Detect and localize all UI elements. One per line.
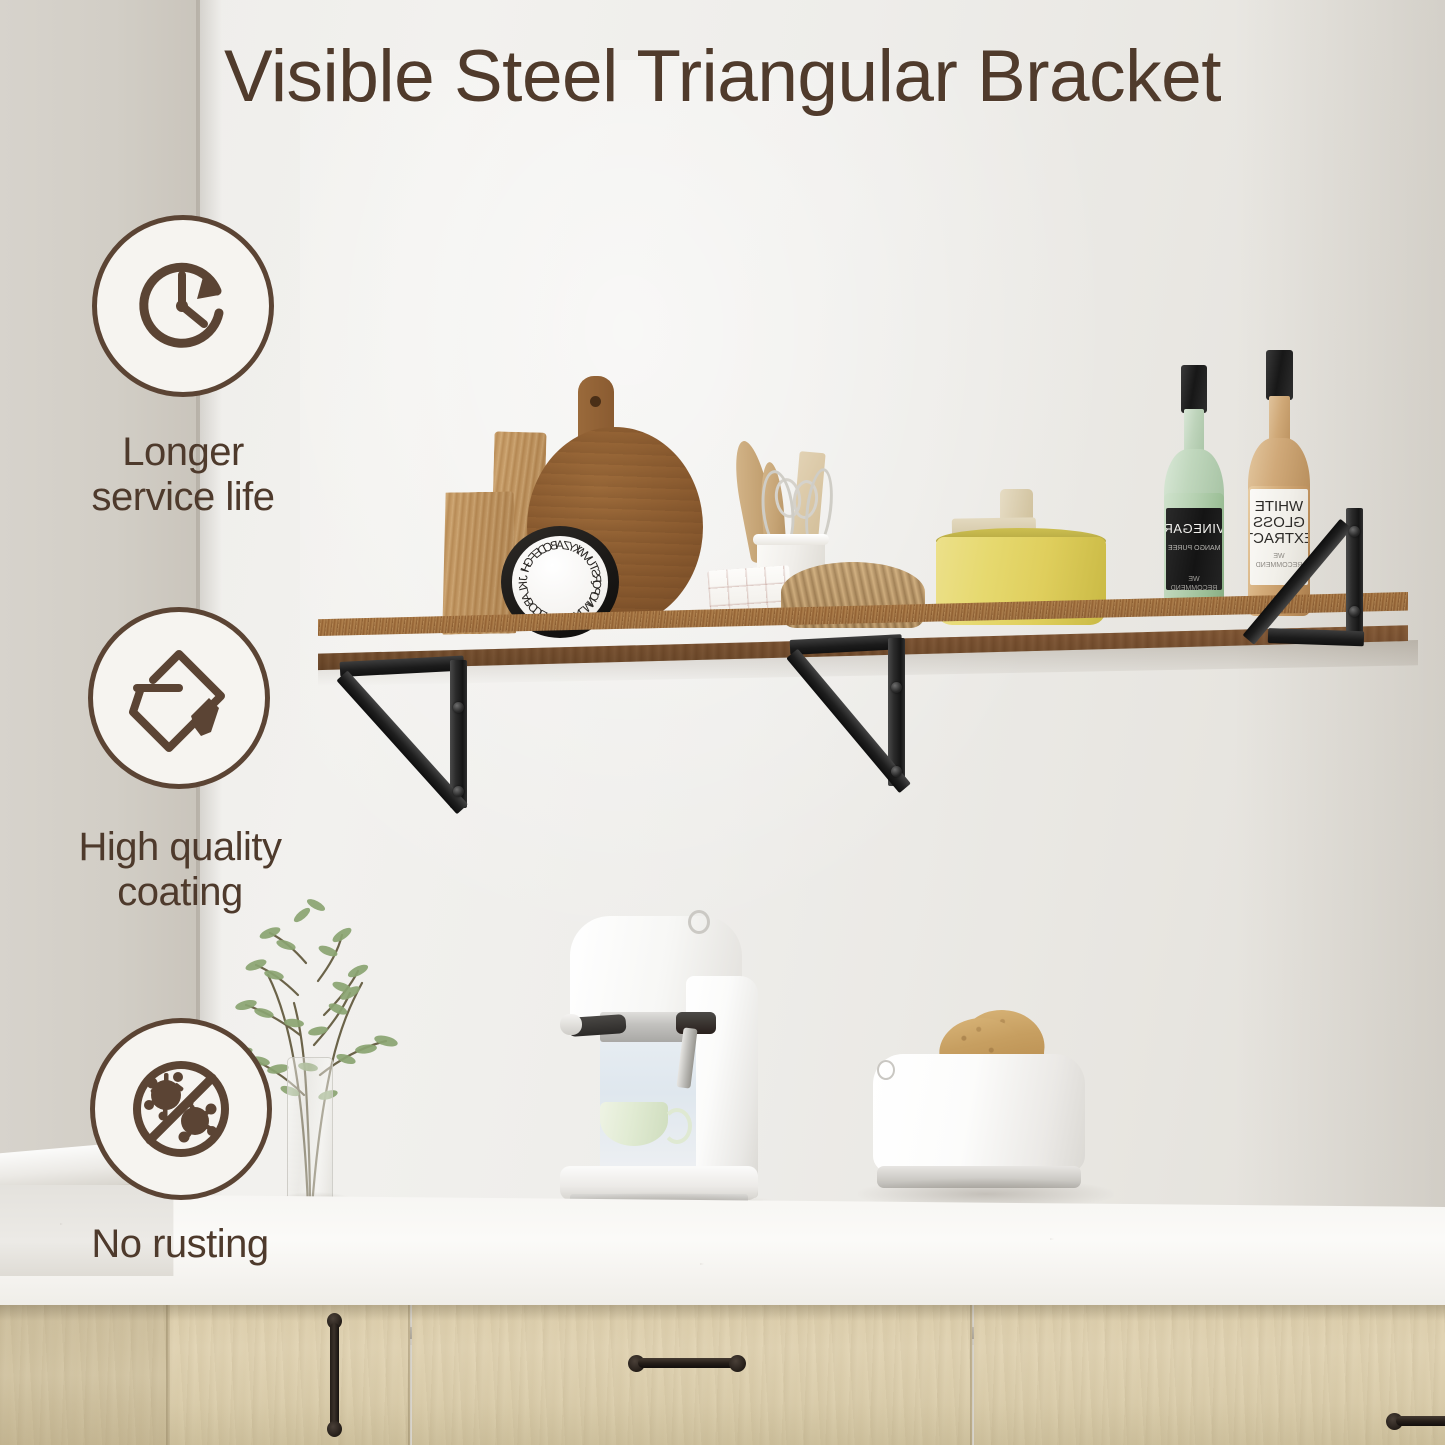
cabinet-seam-3: [970, 1305, 974, 1445]
feature-label-longer-service-life: Longer service life: [33, 430, 333, 520]
triangular-bracket-right: [1302, 508, 1412, 648]
vinegar-label-sub2: WE RECOMMEND: [1166, 575, 1222, 590]
triangular-bracket-middle: [790, 638, 910, 790]
vinegar-bottle-label: VINEGAR MANGO PUREE WE RECOMMEND: [1166, 508, 1222, 590]
cabinet-wood-grain: [412, 1305, 972, 1445]
vinegar-bottle-cap: [1181, 365, 1207, 413]
utensil-crock-rim: [753, 534, 829, 545]
page-title: Visible Steel Triangular Bracket: [0, 35, 1445, 118]
cabinet-panel-side[interactable]: [0, 1305, 168, 1445]
cabinet-seam-1: [166, 1305, 170, 1445]
bracket-right-screw-top: [1349, 526, 1360, 537]
feature-badge-no-rusting: [90, 1018, 272, 1200]
vinegar-bottle: VINEGAR MANGO PUREE WE RECOMMEND: [1164, 365, 1224, 615]
triangular-bracket-left: [340, 660, 470, 820]
vinegar-label-title: VINEGAR: [1166, 522, 1222, 537]
handle-bar: [638, 1358, 736, 1368]
vinegar-label-sub: MANGO PUREE: [1168, 544, 1221, 553]
cabinet-handle-vertical[interactable]: [327, 1311, 341, 1439]
extract-label-title: WHITE GLOSS EXTRACT: [1250, 499, 1308, 546]
espresso-portafilter-handle-tip: [560, 1014, 582, 1035]
cabinet-door-3[interactable]: [974, 1305, 1445, 1445]
bracket-middle-top-arm: [790, 634, 903, 655]
cabinet-door-1[interactable]: [168, 1305, 410, 1445]
bracket-middle-screw-bottom: [891, 766, 902, 777]
cabinet-door-2[interactable]: [412, 1305, 972, 1445]
bracket-left-diagonal-brace: [336, 670, 468, 814]
product-feature-image: Visible Steel Triangular Bracket ABCDEFG…: [0, 0, 1445, 1445]
espresso-machine: [552, 916, 767, 1216]
bracket-left-screw-bottom: [453, 786, 464, 797]
toaster-shell: [873, 1054, 1085, 1172]
cabinet-wood-grain: [168, 1305, 410, 1445]
espresso-cup-handle: [662, 1108, 692, 1144]
handle-rosette-right: [729, 1355, 746, 1372]
cabinet-handle-horizontal-2[interactable]: [1386, 1413, 1445, 1429]
feature-label-high-quality-coating: High quality coating: [15, 825, 345, 915]
cabinet-wood-grain: [0, 1305, 168, 1445]
cabinet-wood-grain: [974, 1305, 1445, 1445]
feature-label-no-rusting: No rusting: [30, 1222, 330, 1267]
espresso-rear-column: [686, 976, 758, 1198]
bracket-middle-screw-top: [891, 682, 902, 693]
espresso-top-handle-loop: [688, 910, 710, 934]
round-board-hanging-hole: [590, 396, 601, 407]
clock-rotate-icon: [124, 247, 242, 365]
feature-badge-high-quality-coating: [88, 607, 270, 789]
feature-badge-longer-service-life: [92, 215, 274, 397]
shelf-top-surface: [318, 592, 1408, 636]
cabinet-handle-horizontal-1[interactable]: [628, 1355, 746, 1371]
bracket-left-screw-top: [453, 702, 464, 713]
toaster-lever-knob: [877, 1060, 895, 1080]
no-germs-icon: [119, 1047, 243, 1171]
base-cabinets: [0, 1305, 1445, 1445]
handle-bar: [1396, 1416, 1445, 1426]
extract-bottle-cap: [1266, 350, 1293, 400]
bracket-right-screw-bottom: [1349, 606, 1360, 617]
cabinet-seam-2: [408, 1305, 412, 1445]
paint-roller-icon: [117, 636, 241, 760]
handle-rosette-bottom: [327, 1421, 342, 1437]
handle-bar: [330, 1323, 339, 1427]
